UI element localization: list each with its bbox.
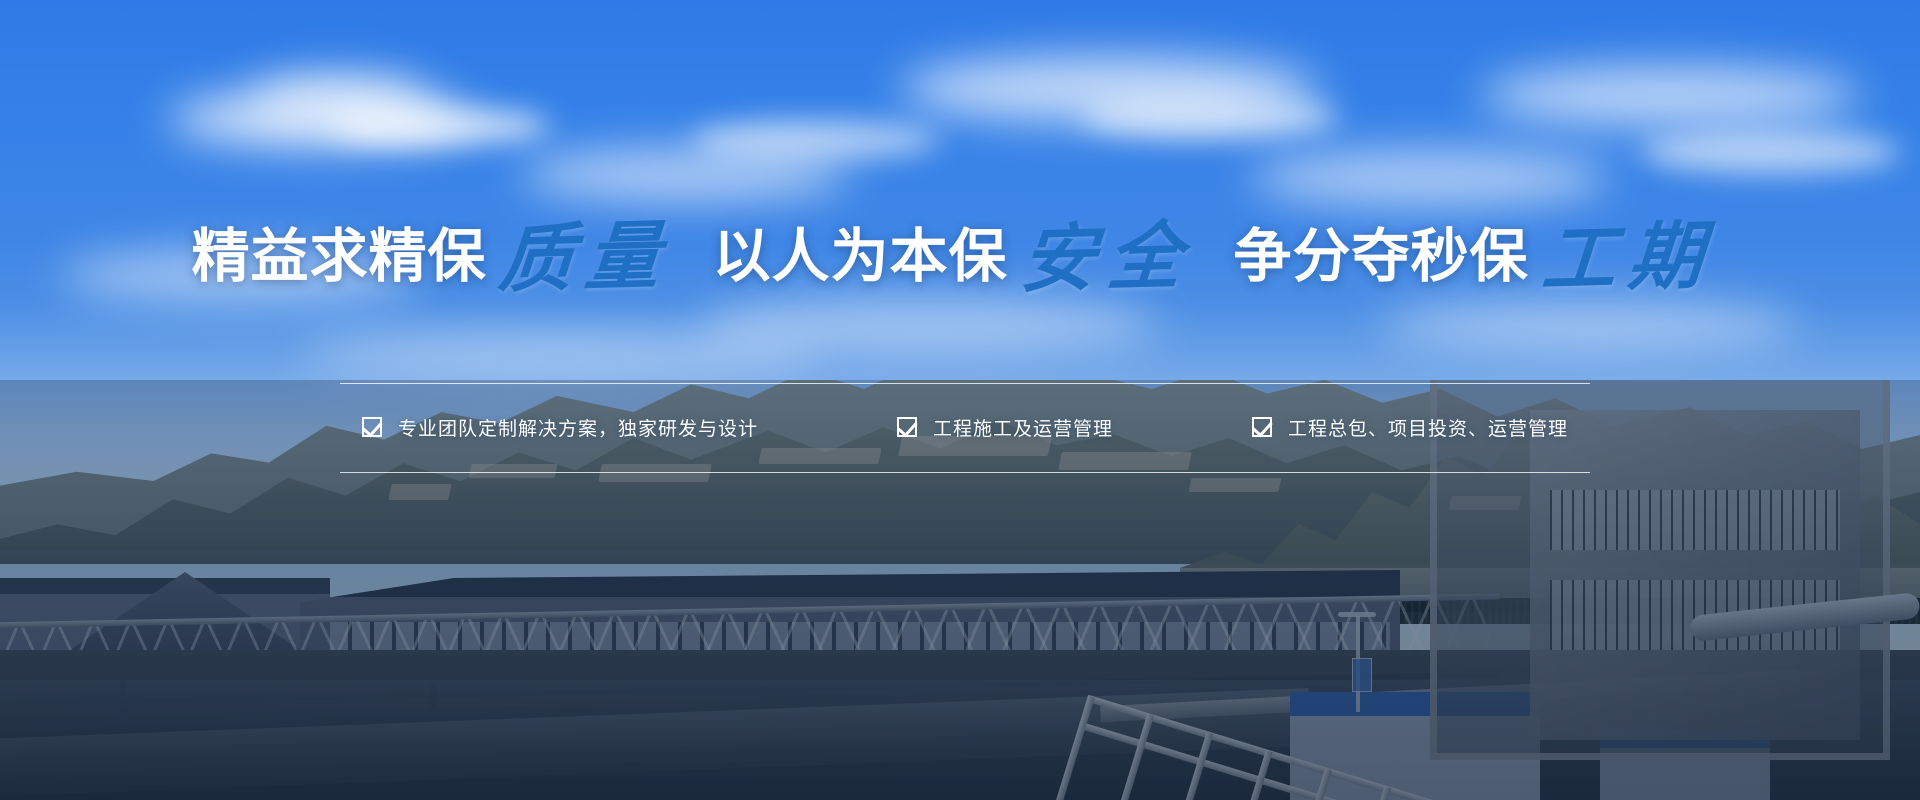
text-overlay: 精益求精保 质量 以人为本保 安全 争分夺秒保 工期 专业团队定制解决方案，独家… xyxy=(0,0,1920,800)
feature-item-construction[interactable]: 工程施工及运营管理 xyxy=(897,414,1113,441)
checkbox-checked-icon xyxy=(362,417,382,437)
headline-accent-quality: 质量 xyxy=(482,195,691,307)
feature-item-solutions[interactable]: 专业团队定制解决方案，独家研发与设计 xyxy=(362,414,758,441)
feature-label: 专业团队定制解决方案，独家研发与设计 xyxy=(398,414,758,441)
headline-segment-3: 争分夺秒保 xyxy=(1234,209,1529,293)
divider-top xyxy=(340,383,1590,384)
headline-accent-schedule: 工期 xyxy=(1524,195,1733,307)
headline-segment-2: 以人为本保 xyxy=(712,209,1007,293)
feature-label: 工程总包、项目投资、运营管理 xyxy=(1288,414,1568,441)
checkbox-checked-icon xyxy=(1252,417,1272,437)
feature-label: 工程施工及运营管理 xyxy=(933,414,1113,441)
feature-list: 专业团队定制解决方案，独家研发与设计 工程施工及运营管理 工程总包、项目投资、运… xyxy=(340,398,1590,456)
divider-bottom xyxy=(340,472,1590,473)
hero-banner: 精益求精保 质量 以人为本保 安全 争分夺秒保 工期 专业团队定制解决方案，独家… xyxy=(0,0,1920,800)
checkbox-checked-icon xyxy=(897,417,917,437)
headline-accent-safety: 安全 xyxy=(1003,195,1212,307)
feature-item-epc[interactable]: 工程总包、项目投资、运营管理 xyxy=(1252,414,1568,441)
headline-segment-1: 精益求精保 xyxy=(191,209,486,293)
headline: 精益求精保 质量 以人为本保 安全 争分夺秒保 工期 xyxy=(0,196,1920,306)
